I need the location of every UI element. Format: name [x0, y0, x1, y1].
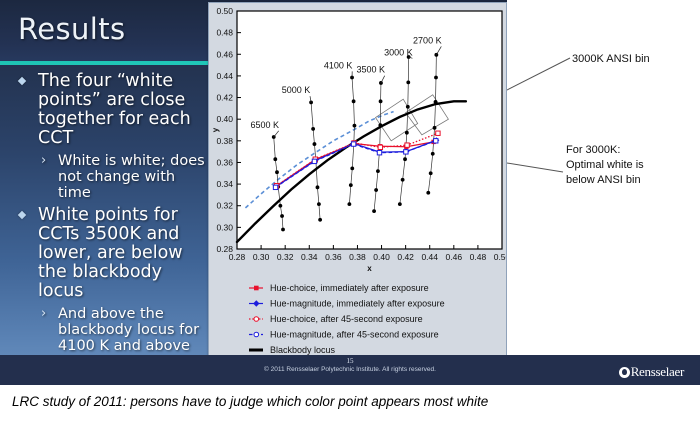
y-tick-label: 0.42 — [216, 93, 233, 103]
y-tick-label: 0.34 — [216, 179, 233, 189]
cct-label: 3000 K — [384, 47, 413, 57]
series-marker — [404, 150, 408, 154]
copyright-text: © 2011 Rensselaer Polytechnic Institute.… — [0, 366, 700, 373]
stimulus-point — [318, 218, 322, 222]
stimulus-point — [376, 169, 380, 173]
y-tick-label: 0.30 — [216, 222, 233, 232]
stimulus-point — [431, 152, 435, 156]
page-title: Results — [18, 12, 126, 46]
stimulus-point — [347, 202, 351, 206]
stimulus-point — [278, 204, 282, 208]
y-tick-label: 0.38 — [216, 136, 233, 146]
diamond-bullet-icon — [18, 77, 26, 85]
cct-label: 3500 K — [356, 65, 385, 75]
stimulus-point — [398, 202, 402, 206]
stimulus-point — [406, 105, 410, 109]
chromaticity-chart: 0.280.300.320.340.360.380.400.420.440.46… — [209, 3, 506, 382]
cct-label: 4100 K — [324, 60, 353, 70]
y-tick-label: 0.44 — [216, 71, 233, 81]
legend-marker — [254, 286, 259, 291]
callout-line: below ANSI bin — [566, 173, 644, 188]
caption-text: LRC study of 2011: persons have to judge… — [12, 394, 488, 409]
stimulus-point — [352, 99, 356, 103]
bullet-item-3: White points for CCTs 3500K and lower, a… — [14, 206, 210, 301]
chart-panel: 0.280.300.320.340.360.380.400.420.440.46… — [208, 2, 507, 383]
series-marker — [377, 151, 381, 155]
series-marker — [378, 145, 382, 149]
x-tick-label: 0.48 — [470, 252, 487, 262]
annotation-area: 3000K ANSI bin For 3000K:Optimal white i… — [507, 0, 700, 355]
legend-label: Hue-magnitude, immediately after exposur… — [270, 299, 445, 309]
stimulus-point — [406, 81, 410, 85]
stimulus-point — [316, 185, 320, 189]
callout-line: For 3000K: — [566, 143, 644, 158]
stimulus-point — [317, 202, 321, 206]
stimulus-point — [403, 157, 407, 161]
legend-marker — [254, 332, 259, 337]
y-tick-label: 0.50 — [216, 6, 233, 16]
stimulus-point — [374, 188, 378, 192]
legend-label: Hue-choice, after 45-second exposure — [270, 314, 423, 324]
legend-marker — [253, 300, 259, 306]
stimulus-point — [401, 178, 405, 182]
bullet-text: White is white; does not change with tim… — [58, 153, 205, 201]
stimulus-point — [379, 99, 383, 103]
ansi-bin-callout: 3000K ANSI bin — [572, 52, 650, 67]
bullet-item-1: The four “white points” are close togeth… — [14, 72, 210, 148]
x-tick-label: 0.40 — [373, 252, 390, 262]
x-tick-label: 0.38 — [349, 252, 366, 262]
bullet-text: White points for CCTs 3500K and lower, a… — [38, 205, 183, 301]
series-marker — [351, 142, 355, 146]
stimulus-point — [275, 170, 279, 174]
x-tick-label: 0.34 — [301, 252, 318, 262]
stimulus-point — [281, 228, 285, 232]
chevron-right-icon: › — [41, 306, 46, 322]
x-tick-label: 0.42 — [397, 252, 414, 262]
series-marker — [405, 143, 409, 147]
stimulus-point — [311, 127, 315, 131]
series-marker — [436, 131, 440, 135]
plot-frame — [237, 11, 502, 249]
optimal-white-callout: For 3000K:Optimal white isbelow ANSI bin — [566, 143, 644, 188]
y-tick-label: 0.36 — [216, 157, 233, 167]
x-tick-label: 0.50 — [494, 252, 506, 262]
diamond-bullet-icon — [18, 211, 26, 219]
series-marker — [312, 159, 316, 163]
cct-label: 5000 K — [282, 85, 311, 95]
stimulus-point — [350, 167, 354, 171]
stimulus-point — [426, 191, 430, 195]
stimulus-point — [313, 142, 317, 146]
bullet-item-2: › White is white; does not change with t… — [14, 153, 210, 201]
x-axis-title: x — [367, 264, 372, 273]
page-number: 15 — [0, 357, 700, 365]
stimulus-point — [349, 183, 353, 187]
x-tick-label: 0.32 — [277, 252, 294, 262]
legend-label: Hue-magnitude, after 45-second exposure — [270, 330, 439, 340]
rensselaer-seal-icon — [619, 367, 630, 378]
stimulus-point — [434, 76, 438, 80]
stimulus-point — [429, 171, 433, 175]
y-tick-label: 0.48 — [216, 28, 233, 38]
bullet-text: The four “white points” are close togeth… — [38, 71, 191, 148]
y-tick-label: 0.40 — [216, 114, 233, 124]
bullet-item-4: › And above the blackbody locus for 4100… — [14, 306, 210, 354]
stimulus-point — [433, 126, 437, 130]
stimulus-point — [273, 157, 277, 161]
chevron-right-icon: › — [41, 153, 46, 169]
slide: Results The four “white points” are clos… — [0, 0, 700, 385]
x-tick-label: 0.44 — [421, 252, 438, 262]
caption-bar: LRC study of 2011: persons have to judge… — [0, 385, 700, 421]
rensselaer-logo: Rensselaer — [619, 364, 684, 380]
y-tick-label: 0.46 — [216, 49, 233, 59]
series-marker — [273, 185, 277, 189]
rensselaer-wordmark: Rensselaer — [631, 364, 684, 380]
cct-label: 2700 K — [413, 35, 442, 45]
x-tick-label: 0.36 — [325, 252, 342, 262]
series-marker — [434, 139, 438, 143]
stimulus-point — [353, 124, 357, 128]
bullet-text: And above the blackbody locus for 4100 K… — [58, 306, 199, 354]
stimulus-point — [405, 131, 409, 135]
legend-label: Hue-choice, immediately after exposure — [270, 283, 429, 293]
callout-line: Optimal white is — [566, 158, 644, 173]
x-tick-label: 0.46 — [446, 252, 463, 262]
y-axis-title: y — [211, 127, 220, 132]
stimulus-point — [280, 214, 284, 218]
cct-label: 6500 K — [250, 120, 279, 130]
legend-marker — [254, 317, 259, 322]
legend-label: Blackbody locus — [270, 345, 336, 355]
x-tick-label: 0.30 — [253, 252, 270, 262]
y-tick-label: 0.32 — [216, 201, 233, 211]
stimulus-point — [372, 209, 376, 213]
bullet-list: The four “white points” are close togeth… — [14, 72, 210, 359]
y-tick-label: 0.28 — [216, 244, 233, 254]
